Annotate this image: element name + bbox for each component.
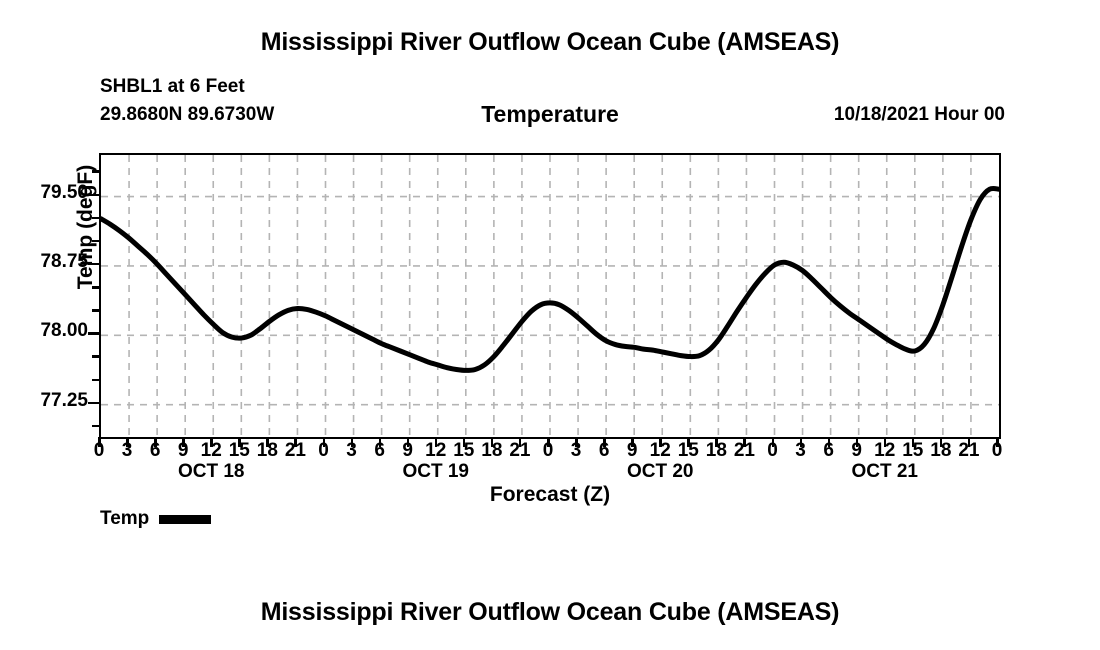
tick-mark xyxy=(92,217,99,220)
y-tick-label: 77.25 xyxy=(8,390,88,412)
legend-item-label: Temp xyxy=(100,508,149,530)
tick-mark xyxy=(92,355,99,358)
day-label: OCT 19 xyxy=(356,461,516,483)
tick-mark xyxy=(92,240,99,243)
tick-mark xyxy=(92,425,99,428)
legend-color-swatch xyxy=(159,515,211,524)
day-label: OCT 21 xyxy=(805,461,965,483)
tick-mark xyxy=(92,170,99,173)
tick-mark xyxy=(92,286,99,289)
y-tick-label: 78.00 xyxy=(8,320,88,342)
bottom-title: Mississippi River Outflow Ocean Cube (AM… xyxy=(0,598,1100,627)
x-axis-title: Forecast (Z) xyxy=(0,483,1100,507)
chart-legend: Temp xyxy=(100,508,211,530)
grid-lines xyxy=(101,155,999,437)
temperature-line-chart xyxy=(101,155,999,437)
x-tick-label: 0 xyxy=(977,440,1017,462)
plot-area xyxy=(99,153,1001,439)
day-label: OCT 18 xyxy=(131,461,291,483)
station-label: SHBL1 at 6 Feet xyxy=(100,76,245,98)
model-run-timestamp: 10/18/2021 Hour 00 xyxy=(834,104,1005,126)
chart-page: Mississippi River Outflow Ocean Cube (AM… xyxy=(0,0,1100,650)
tick-mark xyxy=(92,309,99,312)
tick-mark xyxy=(88,402,99,405)
y-tick-label: 79.50 xyxy=(8,182,88,204)
main-title: Mississippi River Outflow Ocean Cube (AM… xyxy=(0,28,1100,57)
tick-mark xyxy=(92,379,99,382)
tick-mark xyxy=(88,263,99,266)
tick-mark xyxy=(88,332,99,335)
y-axis-title: Temp (degF) xyxy=(74,127,98,327)
tick-mark xyxy=(88,194,99,197)
day-label: OCT 20 xyxy=(580,461,740,483)
y-tick-label: 78.75 xyxy=(8,251,88,273)
